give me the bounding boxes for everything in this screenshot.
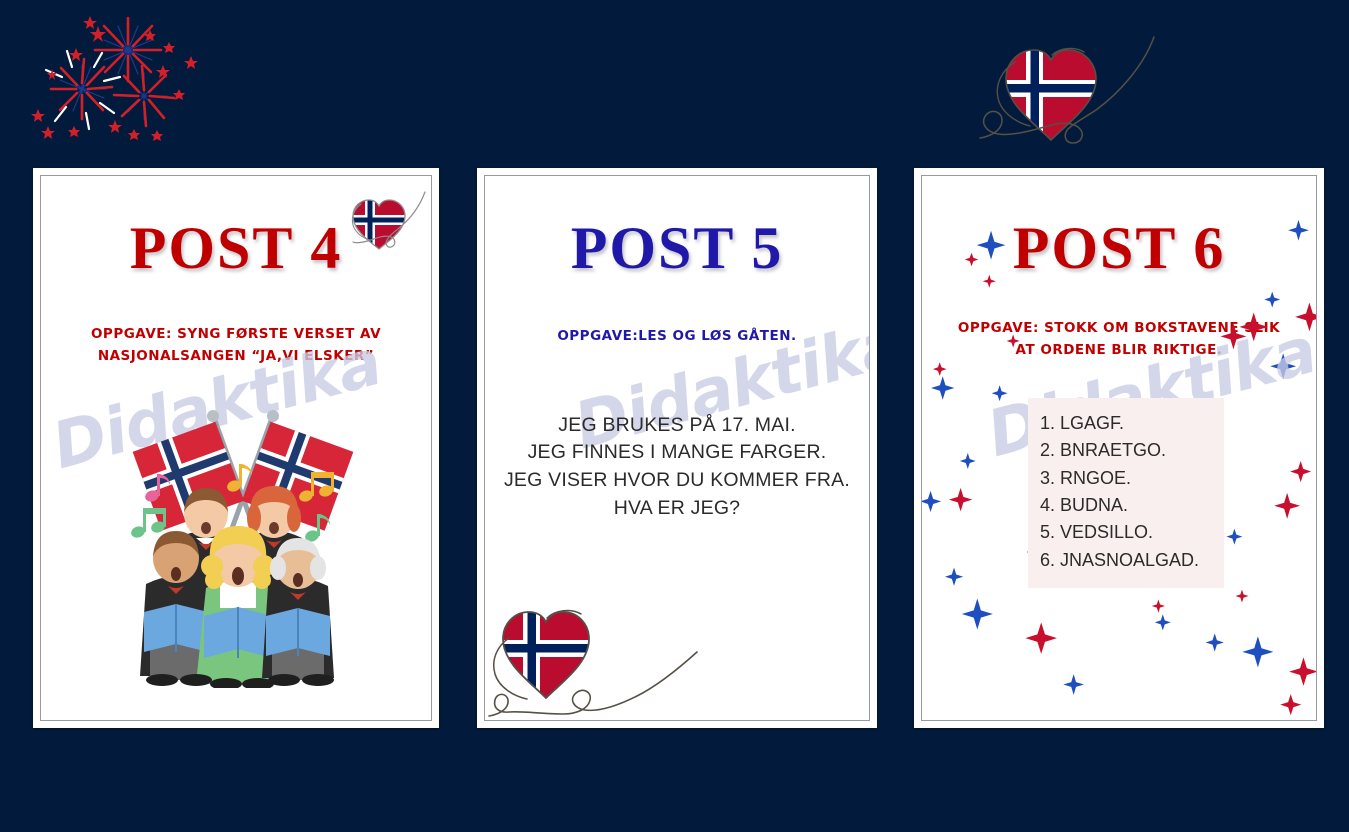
anagram-list-box: 1. LGAGF. 2. BNRAETGO. 3. RNGOE. 4. BUDN… xyxy=(1028,398,1224,588)
list-item: 5. VEDSILLO. xyxy=(1038,519,1214,546)
list-item-number: 6. xyxy=(1040,547,1057,574)
riddle-line: JEG VISER HVOR DU KOMMER FRA. xyxy=(485,467,869,495)
list-item-word: LGAGF. xyxy=(1060,410,1124,437)
list-item-number: 5. xyxy=(1040,519,1057,546)
riddle-line: JEG FINNES I MANGE FARGER. xyxy=(485,439,869,467)
riddle-line: HVA ER JEG? xyxy=(485,495,869,523)
riddle-text: JEG BRUKES PÅ 17. MAI. JEG FINNES I MANG… xyxy=(485,412,869,523)
card-content-5: Didaktika POST 5 OPPGAVE:LES OG LØS GÅTE… xyxy=(484,175,870,721)
norwegian-flag-heart-icon xyxy=(347,190,429,250)
list-item: 2. BNRAETGO. xyxy=(1038,437,1214,464)
list-item-number: 1. xyxy=(1040,410,1057,437)
norwegian-flag-heart-decoration xyxy=(968,22,1168,157)
list-item: 4. BUDNA. xyxy=(1038,492,1214,519)
list-item: 6. JNASNOALGAD. xyxy=(1038,547,1214,574)
post-card-6[interactable]: Didaktika POST 6 OPPGAVE: STOKK OM BOKST… xyxy=(914,168,1324,728)
riddle-line: JEG BRUKES PÅ 17. MAI. xyxy=(485,412,869,440)
cards-row: Didaktika xyxy=(0,168,1349,734)
fireworks-decoration xyxy=(22,8,208,158)
list-item-word: RNGOE. xyxy=(1060,465,1131,492)
post-card-5[interactable]: Didaktika POST 5 OPPGAVE:LES OG LØS GÅTE… xyxy=(477,168,877,728)
list-item: 1. LGAGF. xyxy=(1038,410,1214,437)
list-item-word: JNASNOALGAD. xyxy=(1060,547,1199,574)
list-item-word: BUDNA. xyxy=(1060,492,1128,519)
list-item-word: VEDSILLO. xyxy=(1060,519,1153,546)
card-content-6: Didaktika POST 6 OPPGAVE: STOKK OM BOKST… xyxy=(921,175,1317,721)
norwegian-flag-heart-icon xyxy=(484,594,711,721)
norwegian-flag-heart-icon xyxy=(968,22,1168,157)
choir-singing-illustration xyxy=(86,388,386,688)
card-task-post-5: OPPGAVE:LES OG LØS GÅTEN. xyxy=(485,326,869,348)
card-title-post-5: POST 5 xyxy=(485,218,869,278)
list-item-word: BNRAETGO. xyxy=(1060,437,1166,464)
anagram-list: 1. LGAGF. 2. BNRAETGO. 3. RNGOE. 4. BUDN… xyxy=(1038,410,1214,574)
list-item-number: 3. xyxy=(1040,465,1057,492)
list-item-number: 2. xyxy=(1040,437,1057,464)
list-item: 3. RNGOE. xyxy=(1038,465,1214,492)
fireworks-icon xyxy=(22,8,208,158)
list-item-number: 4. xyxy=(1040,492,1057,519)
post-card-4[interactable]: Didaktika xyxy=(33,168,439,728)
card-task-post-4: OPPGAVE: SYNG FØRSTE VERSET AV NASJONALS… xyxy=(41,324,431,367)
card-content-4: Didaktika xyxy=(40,175,432,721)
